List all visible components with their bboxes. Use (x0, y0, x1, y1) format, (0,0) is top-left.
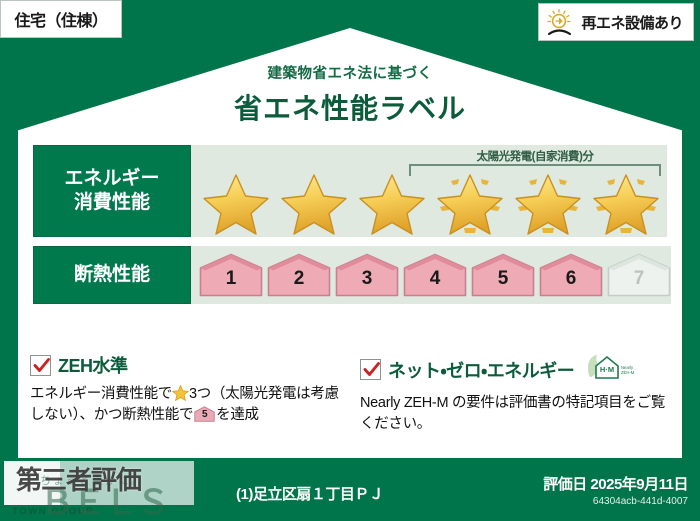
zeh-m-logo-icon: H·M Nearly ZEH-M (581, 352, 637, 387)
statement-net-zero-head: ネット・ゼロ・エネルギー H·M Nearly ZEH-M (360, 352, 674, 387)
statement-net-zero: ネット・ゼロ・エネルギー H·M Nearly ZEH-M Nearly ZEH… (360, 352, 674, 435)
star-icon (514, 173, 582, 235)
performance-rows: エネルギー 消費性能 太陽光発電(自家消費)分 断熱性能 1234567 (33, 145, 667, 304)
energy-label-line1: エネルギー (64, 167, 159, 191)
insulation-grade-2: 2 (267, 253, 331, 297)
insulation-performance-value: 1234567 (191, 246, 671, 304)
insulation-grade-value: 3 (335, 253, 399, 297)
title-subtitle: 建築物省エネ法に基づく (0, 62, 700, 83)
star-icon (358, 173, 426, 235)
check-icon (362, 360, 381, 379)
check-icon (32, 356, 51, 375)
star-3 (353, 167, 431, 235)
insulation-grade-4: 4 (403, 253, 467, 297)
insulation-grade-value: 5 (471, 253, 535, 297)
zeh-body: エネルギー消費性能で 3つ（太陽光発電は考慮しない）、かつ断熱性能で 5 を達成 (30, 384, 344, 426)
inline-grade-badge: 5 (194, 406, 215, 422)
energy-label-line2: 消費性能 (74, 191, 150, 215)
net-zero-body: Nearly ZEH-M の要件は評価書の特記項目をご覧ください。 (360, 393, 674, 435)
renewable-badge-label: 再エネ設備あり (581, 12, 683, 33)
insulation-grade-value: 2 (267, 253, 331, 297)
insulation-grade-value: 6 (539, 253, 603, 297)
insulation-grade-6: 6 (539, 253, 603, 297)
insulation-grade-value: 4 (403, 253, 467, 297)
energy-performance-value: 太陽光発電(自家消費)分 (191, 145, 667, 237)
star-icon (436, 173, 504, 235)
footer-record-id: 64304acb-441d-4007 (543, 496, 688, 507)
town-group-logo-text: TOWN GROUP (12, 506, 94, 517)
star-4 (431, 167, 509, 235)
insulation-grade-3: 3 (335, 253, 399, 297)
zeh-checkbox[interactable] (30, 355, 51, 376)
title-main: 省エネ性能ラベル (0, 87, 700, 127)
star-icon (592, 173, 660, 235)
insulation-grade-value: 7 (607, 253, 671, 297)
star-icon (202, 173, 270, 235)
renewable-equipment-badge: 再エネ設備あり (538, 3, 694, 41)
energy-performance-label: エネルギー 消費性能 (33, 145, 191, 237)
zeh-title: ZEH水準 (58, 352, 128, 378)
star-2 (275, 167, 353, 235)
solar-generation-note: 太陽光発電(自家消費)分 (409, 148, 661, 164)
inline-grade-value: 5 (194, 406, 215, 422)
star-rating-strip (197, 167, 665, 235)
statement-zeh: ZEH水準 エネルギー消費性能で 3つ（太陽光発電は考慮しない）、かつ断熱性能で… (30, 352, 344, 435)
insulation-label-text: 断熱性能 (74, 263, 150, 287)
insulation-grade-strip: 1234567 (199, 253, 671, 297)
star-6 (587, 167, 665, 235)
insulation-grade-5: 5 (471, 253, 535, 297)
building-type-tab[interactable]: 住宅（住棟） (0, 0, 122, 38)
insulation-grade-1: 1 (199, 253, 263, 297)
insulation-performance-label: 断熱性能 (33, 246, 191, 304)
insulation-grade-value: 1 (199, 253, 263, 297)
svg-text:ZEH-M: ZEH-M (621, 370, 635, 375)
energy-performance-row: エネルギー 消費性能 太陽光発電(自家消費)分 (33, 145, 667, 237)
insulation-performance-row: 断熱性能 1234567 (33, 246, 667, 304)
footer-address: (1)足立区扇１丁目ＰＪ (236, 483, 383, 504)
svg-text:H·M: H·M (600, 365, 614, 374)
label-title-block: 建築物省エネ法に基づく 省エネ性能ラベル (0, 62, 700, 127)
footer-date-block: 評価日 2025年9月11日 64304acb-441d-4007 (543, 473, 688, 507)
footer-evaluation-date: 評価日 2025年9月11日 (543, 473, 688, 494)
star-5 (509, 167, 587, 235)
star-1 (197, 167, 275, 235)
statements-block: ZEH水準 エネルギー消費性能で 3つ（太陽光発電は考慮しない）、かつ断熱性能で… (30, 352, 674, 435)
zeh-body-part3: を達成 (216, 407, 259, 423)
inline-star-icon (172, 385, 189, 401)
insulation-grade-7: 7 (607, 253, 671, 297)
star-icon (280, 173, 348, 235)
net-zero-checkbox[interactable] (360, 359, 381, 380)
statement-zeh-head: ZEH水準 (30, 352, 344, 378)
zeh-body-part1: エネルギー消費性能で (30, 386, 172, 402)
energy-performance-label: 住宅（住棟） 再エネ設備あり 建築物省エネ法に基づく (0, 0, 700, 521)
solar-sun-icon (545, 8, 575, 36)
building-type-label: 住宅（住棟） (14, 7, 107, 31)
net-zero-title: ネット・ゼロ・エネルギー (388, 357, 574, 383)
third-party-watermark: 第三者評価 (16, 460, 141, 497)
